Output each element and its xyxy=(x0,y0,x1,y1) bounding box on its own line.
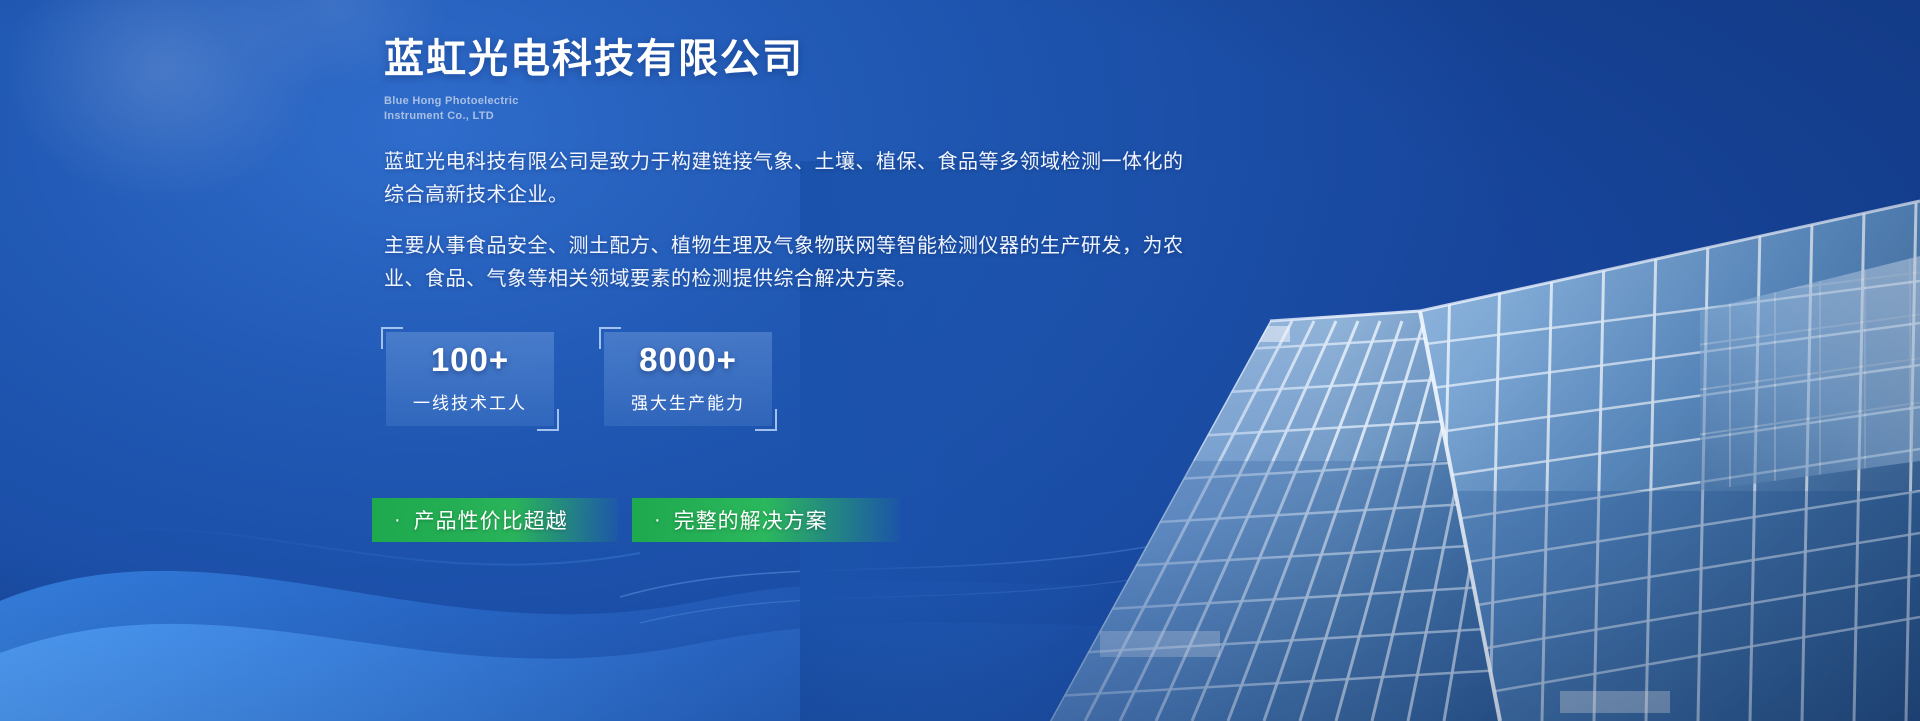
corner-bracket-icon xyxy=(537,409,559,431)
stat-label: 一线技术工人 xyxy=(413,389,527,414)
stat-value: 100+ xyxy=(431,343,509,376)
corner-bracket-icon xyxy=(599,327,621,349)
hero-banner: 蓝虹光电科技有限公司 Blue Hong Photoelectric Instr… xyxy=(0,0,1920,721)
feature-tag-label: 产品性价比超越 xyxy=(414,505,568,535)
bullet-icon: · xyxy=(654,510,662,530)
stat-card-capacity: 8000+ 强大生产能力 xyxy=(604,332,772,426)
stat-label: 强大生产能力 xyxy=(631,389,745,414)
page-title: 蓝虹光电科技有限公司 xyxy=(384,34,1224,84)
intro-paragraph-1: 蓝虹光电科技有限公司是致力于构建链接气象、土壤、植保、食品等多领域检测一体化的综… xyxy=(384,146,1184,212)
feature-tag-label: 完整的解决方案 xyxy=(674,505,828,535)
stat-card-workers: 100+ 一线技术工人 xyxy=(386,332,554,426)
company-subtitle-en: Blue Hong Photoelectric Instrument Co., … xyxy=(384,94,1224,124)
feature-tag-value: · 产品性价比超越 xyxy=(372,498,618,542)
feature-tag-group: · 产品性价比超越 · 完整的解决方案 xyxy=(372,498,1224,542)
corner-bracket-icon xyxy=(755,409,777,431)
subtitle-line-1: Blue Hong Photoelectric xyxy=(384,94,1224,109)
stat-value: 8000+ xyxy=(639,343,737,376)
hero-content: 蓝虹光电科技有限公司 Blue Hong Photoelectric Instr… xyxy=(384,34,1224,542)
corner-bracket-icon xyxy=(381,327,403,349)
subtitle-line-2: Instrument Co., LTD xyxy=(384,109,1224,124)
bullet-icon: · xyxy=(394,510,402,530)
stat-card-group: 100+ 一线技术工人 8000+ 强大生产能力 xyxy=(386,332,1224,426)
feature-tag-solution: · 完整的解决方案 xyxy=(632,498,900,542)
intro-paragraph-2: 主要从事食品安全、测土配方、植物生理及气象物联网等智能检测仪器的生产研发，为农业… xyxy=(384,230,1184,296)
